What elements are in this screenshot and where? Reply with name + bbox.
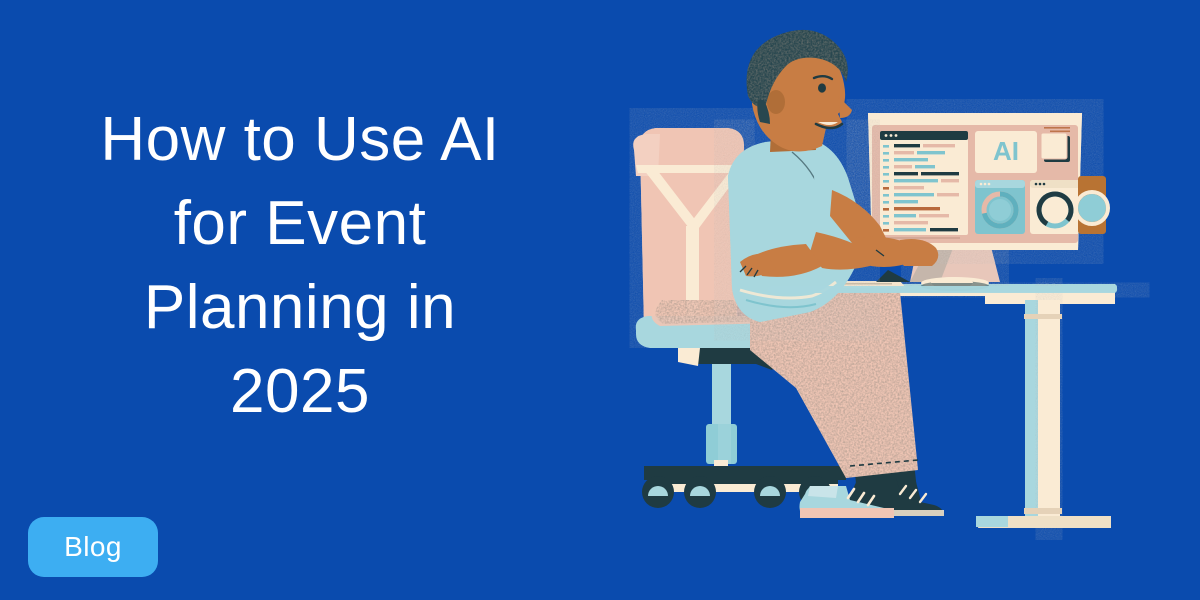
code-editor-window <box>880 131 968 235</box>
widget-card-cream <box>1030 180 1080 234</box>
desk-front-edge <box>768 286 1117 293</box>
widget-card-brown-overflow <box>1076 176 1108 234</box>
ai-tile: AI <box>975 131 1037 173</box>
blog-hero-banner: How to Use AI for Event Planning in 2025… <box>0 0 1200 600</box>
blog-badge-label: Blog <box>64 531 122 563</box>
stacked-cards-icon <box>1041 133 1070 162</box>
page-title: How to Use AI for Event Planning in 2025 <box>30 98 570 434</box>
workspace-illustration: AI <box>600 0 1200 600</box>
ai-tile-label: AI <box>993 136 1019 166</box>
widget-card-blue <box>975 180 1025 234</box>
blog-badge[interactable]: Blog <box>28 517 158 577</box>
text-column: How to Use AI for Event Planning in 2025… <box>0 0 600 600</box>
